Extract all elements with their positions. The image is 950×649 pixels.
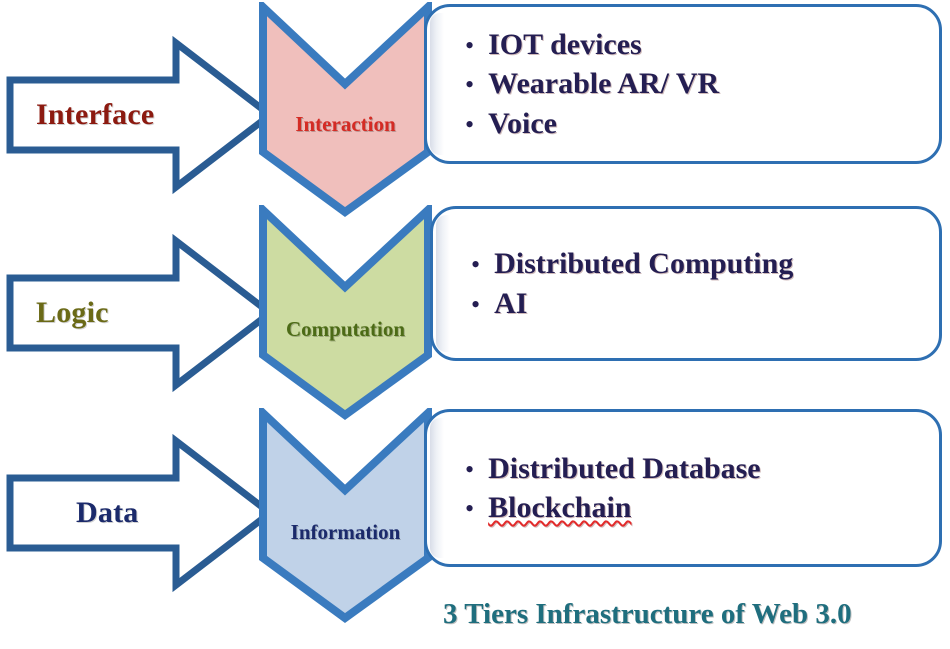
arrow-shape-data[interactable]: Data [6, 433, 276, 593]
arrow-label-interface: Interface [36, 35, 154, 195]
list-item-label: AI [494, 286, 527, 321]
list-item: • Distributed Database [457, 451, 939, 486]
chevron-down-icon [258, 205, 433, 420]
chevron-shape-computation[interactable]: Computation [258, 205, 433, 420]
arrow-label-logic: Logic [36, 233, 109, 393]
bullet-dot-icon: • [465, 496, 474, 522]
chevron-shape-information[interactable]: Information [258, 408, 433, 623]
bullet-dot-icon: • [465, 33, 474, 59]
content-box-information[interactable]: • Distributed Database • Blockchain [424, 409, 942, 567]
list-item-label: IOT devices [488, 27, 642, 62]
diagram-caption: 3 Tiers Infrastructure of Web 3.0 [443, 598, 852, 631]
list-item: • Blockchain [457, 490, 939, 525]
chevron-label-information: Information [258, 520, 433, 545]
arrow-icon [6, 433, 276, 593]
chevron-label-interaction: Interaction [258, 112, 433, 137]
chevron-down-icon [258, 408, 433, 623]
bullet-dot-icon: • [465, 72, 474, 98]
list-item-label: Voice [488, 106, 557, 141]
bullet-dot-icon: • [471, 292, 480, 318]
list-item: • Wearable AR/ VR [457, 66, 939, 101]
chevron-label-computation: Computation [258, 317, 433, 342]
list-item: • Distributed Computing [463, 246, 939, 281]
bullet-dot-icon: • [471, 252, 480, 278]
bullet-dot-icon: • [465, 457, 474, 483]
list-item: • Voice [457, 106, 939, 141]
bullet-dot-icon: • [465, 112, 474, 138]
list-item: • AI [463, 286, 939, 321]
arrow-shape-logic[interactable]: Logic [6, 233, 276, 393]
content-box-interaction[interactable]: • IOT devices • Wearable AR/ VR • Voice [424, 4, 942, 164]
list-item-label: Distributed Database [488, 451, 761, 486]
chevron-shape-interaction[interactable]: Interaction [258, 2, 433, 217]
diagram-canvas: Interface Interaction • IOT devices • We… [0, 0, 950, 649]
content-box-computation[interactable]: • Distributed Computing • AI [430, 206, 942, 361]
chevron-down-icon [258, 2, 433, 217]
list-item-label: Distributed Computing [494, 246, 793, 281]
list-item-label: Wearable AR/ VR [488, 66, 719, 101]
arrow-label-data: Data [76, 433, 138, 593]
list-item-label: Blockchain [488, 490, 631, 525]
list-item: • IOT devices [457, 27, 939, 62]
arrow-shape-interface[interactable]: Interface [6, 35, 276, 195]
